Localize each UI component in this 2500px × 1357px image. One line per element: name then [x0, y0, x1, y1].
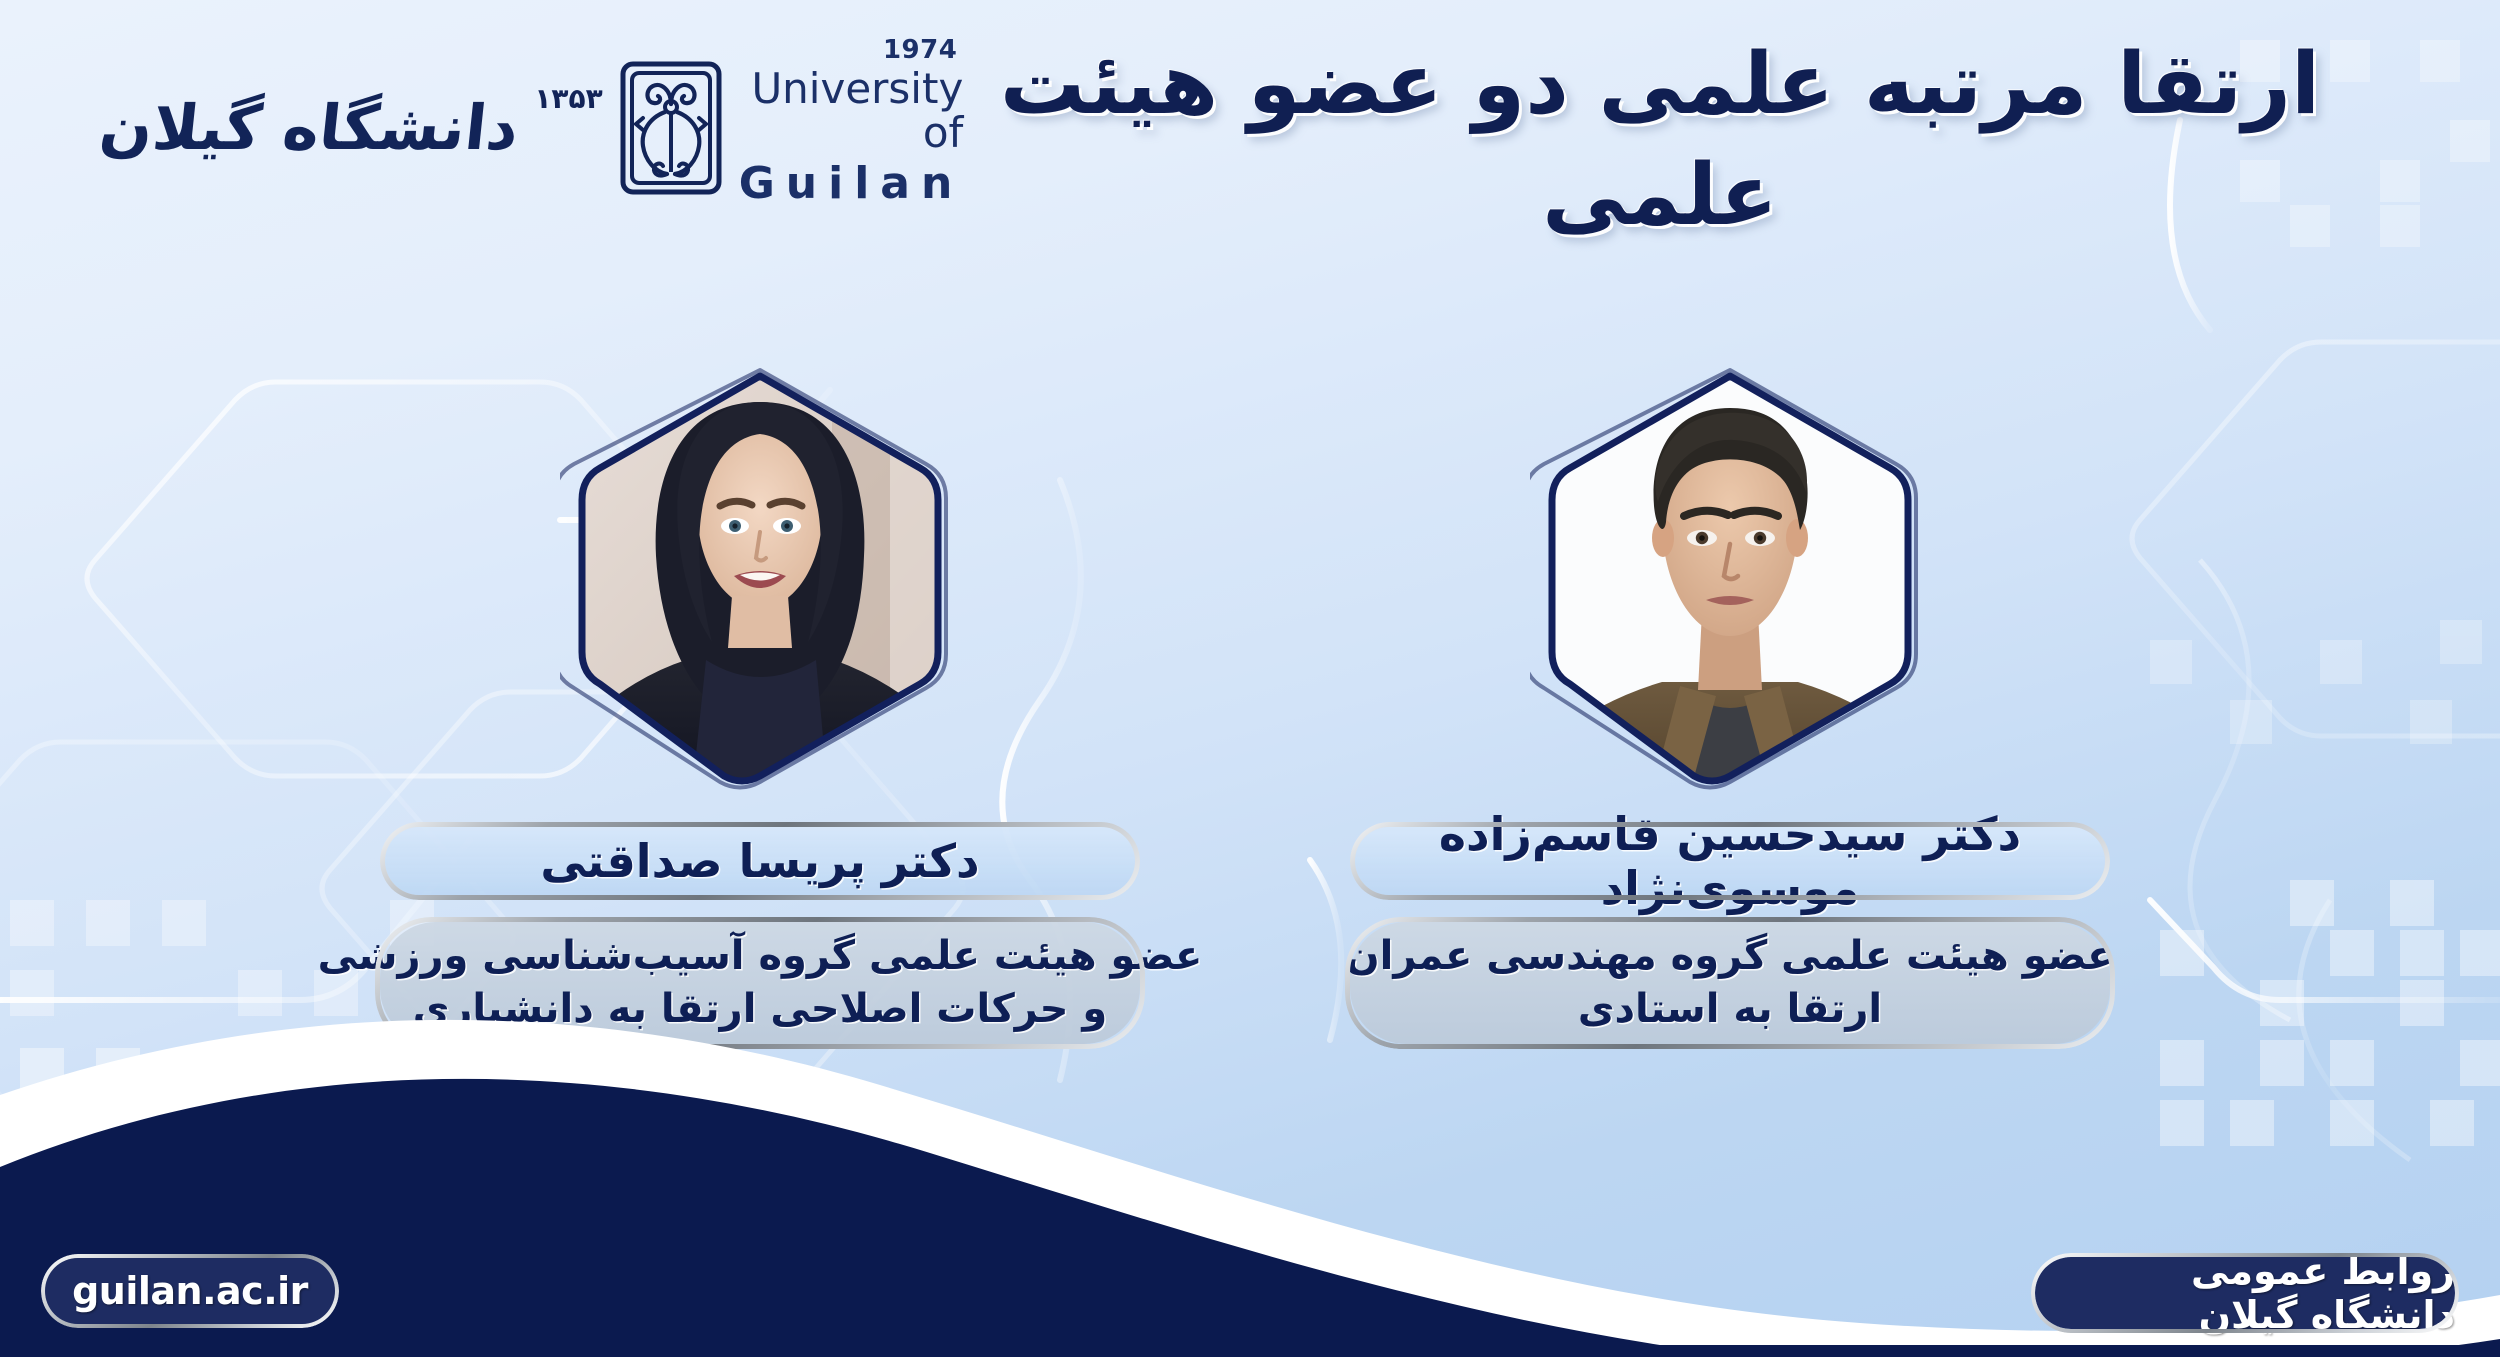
page-title: ارتقا مرتبه علمی دو عضو هیئت علمی	[930, 30, 2390, 251]
logo-persian-year: ۱۳۵۳	[534, 82, 602, 115]
person-name-left: دکتر پریسا صداقتی	[380, 822, 1140, 900]
square-grid-mid-right	[2150, 620, 2482, 744]
photo-hexagon-right	[1530, 360, 1930, 792]
photo-hexagon-left	[560, 360, 960, 792]
person-name-right: دکتر سیدحسین قاسم‌زاده موسوی‌نژاد	[1350, 822, 2110, 900]
guilan-university-emblem-icon	[619, 60, 723, 196]
hexagon-frame-right	[1530, 360, 1930, 792]
poster-canvas: دانشگاه گیلان ۱۳۵۳ 1974 University of Gu…	[0, 0, 2500, 1357]
hexagon-frame-left	[560, 360, 960, 792]
website-url-badge[interactable]: guilan.ac.ir	[45, 1258, 335, 1324]
public-relations-badge: روابط عمومی دانشگاه گیلان	[2035, 1257, 2455, 1329]
university-logo: دانشگاه گیلان ۱۳۵۳ 1974 University of Gu…	[100, 48, 840, 208]
logo-persian-name: دانشگاه گیلان	[97, 97, 522, 159]
